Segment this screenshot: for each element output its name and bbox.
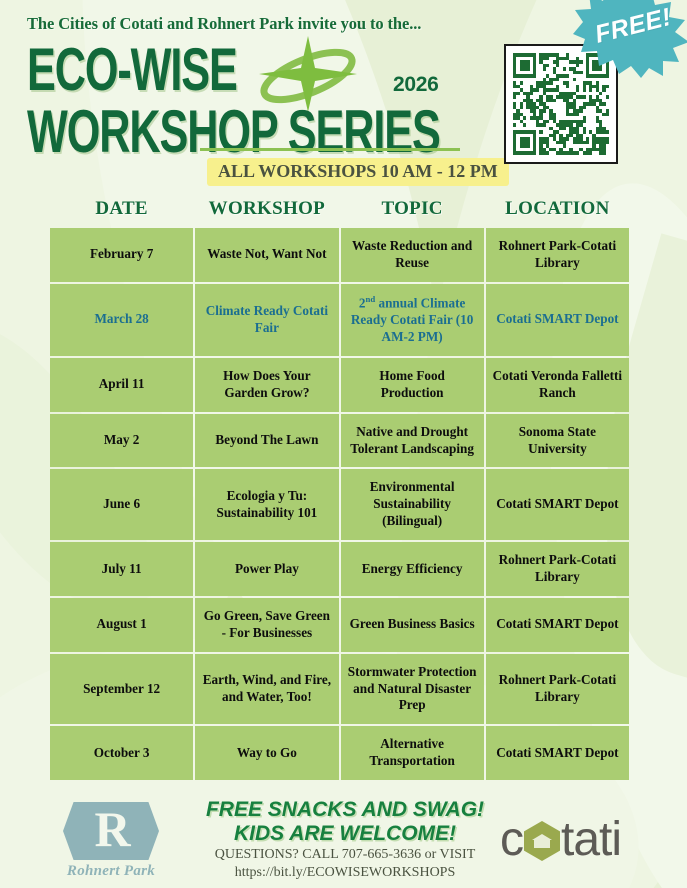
cell-location: Sonoma State University — [486, 414, 629, 468]
cell-topic: 2nd annual Climate Ready Cotati Fair (10… — [341, 284, 484, 356]
contact-phone-line: QUESTIONS? CALL 707-665-3636 or VISIT — [180, 846, 510, 864]
qr-module — [606, 151, 609, 155]
cell-location: Rohnert Park-Cotati Library — [486, 228, 629, 282]
schedule-table-wrap: DATE WORKSHOP TOPIC LOCATION February 7W… — [48, 196, 631, 782]
cell-location: Cotati SMART Depot — [486, 284, 629, 356]
cell-topic: Waste Reduction and Reuse — [341, 228, 484, 282]
title-line-1: ECO-WISE — [27, 40, 440, 98]
rohnert-park-wordmark: Rohnert Park — [58, 863, 164, 880]
cell-workshop: Beyond The Lawn — [195, 414, 338, 468]
footer: R Rohnert Park FREE SNACKS AND SWAG! KID… — [0, 796, 687, 888]
table-row: February 7Waste Not, Want NotWaste Reduc… — [50, 228, 629, 282]
year-label: 2026 — [393, 73, 439, 97]
table-row: March 28Climate Ready Cotati Fair2nd ann… — [50, 284, 629, 356]
table-row: July 11Power PlayEnergy EfficiencyRohner… — [50, 542, 629, 596]
cell-location: Rohnert Park-Cotati Library — [486, 542, 629, 596]
schedule-table: DATE WORKSHOP TOPIC LOCATION February 7W… — [48, 196, 631, 782]
column-header-date: DATE — [50, 198, 193, 226]
cell-workshop: Go Green, Save Green - For Businesses — [195, 598, 338, 652]
cell-date: September 12 — [50, 654, 193, 725]
cell-topic: Stormwater Protection and Natural Disast… — [341, 654, 484, 725]
promo-text: FREE SNACKS AND SWAG! KIDS ARE WELCOME! — [180, 798, 510, 845]
column-header-location: LOCATION — [486, 198, 629, 226]
poster-canvas: FREE! The Cities of Cotati and Rohnert P… — [0, 0, 687, 888]
cell-workshop: Way to Go — [195, 726, 338, 780]
cell-date: March 28 — [50, 284, 193, 356]
column-header-workshop: WORKSHOP — [195, 198, 338, 226]
contact-url-line[interactable]: https://bit.ly/ECOWISEWORKSHOPS — [180, 864, 510, 882]
table-row: May 2Beyond The LawnNative and Drought T… — [50, 414, 629, 468]
cotati-logo: c tati — [500, 814, 621, 866]
cell-location: Cotati SMART Depot — [486, 598, 629, 652]
cell-location: Cotati SMART Depot — [486, 726, 629, 780]
cell-location: Cotati Veronda Falletti Ranch — [486, 358, 629, 412]
cell-workshop: Waste Not, Want Not — [195, 228, 338, 282]
contact-info: QUESTIONS? CALL 707-665-3636 or VISIT ht… — [180, 846, 510, 882]
rohnert-park-monogram: R — [94, 804, 127, 854]
cell-date: May 2 — [50, 414, 193, 468]
cell-workshop: Climate Ready Cotati Fair — [195, 284, 338, 356]
table-row: April 11How Does Your Garden Grow?Home F… — [50, 358, 629, 412]
cell-date: October 3 — [50, 726, 193, 780]
cell-workshop: How Does Your Garden Grow? — [195, 358, 338, 412]
title-line-2: WORKSHOP SERIES — [27, 102, 440, 160]
time-banner: ALL WORKSHOPS 10 AM - 12 PM — [207, 158, 509, 186]
table-row: September 12Earth, Wind, and Fire, and W… — [50, 654, 629, 725]
cotati-wordmark-prefix: c — [500, 816, 523, 864]
cell-workshop: Earth, Wind, and Fire, and Water, Too! — [195, 654, 338, 725]
cell-workshop: Power Play — [195, 542, 338, 596]
cell-topic: Energy Efficiency — [341, 542, 484, 596]
cell-topic: Native and Drought Tolerant Landscaping — [341, 414, 484, 468]
cotati-wordmark-suffix: tati — [561, 816, 621, 864]
cell-topic: Environmental Sustainability (Bilingual) — [341, 469, 484, 540]
cell-topic: Home Food Production — [341, 358, 484, 412]
cell-date: June 6 — [50, 469, 193, 540]
promo-line-1: FREE SNACKS AND SWAG! — [180, 798, 510, 822]
cell-location: Rohnert Park-Cotati Library — [486, 654, 629, 725]
hexagon-icon — [524, 821, 560, 861]
cell-location: Cotati SMART Depot — [486, 469, 629, 540]
rohnert-park-logo: R Rohnert Park — [58, 802, 164, 884]
promo-line-2: KIDS ARE WELCOME! — [180, 822, 510, 846]
title-underline — [200, 148, 460, 151]
cell-topic: Green Business Basics — [341, 598, 484, 652]
table-header-row: DATE WORKSHOP TOPIC LOCATION — [50, 198, 629, 226]
table-row: October 3Way to GoAlternative Transporta… — [50, 726, 629, 780]
pavilion-body — [534, 840, 550, 848]
free-badge-text-wrap: FREE! — [555, 0, 687, 92]
cell-date: August 1 — [50, 598, 193, 652]
pavilion-icon — [532, 834, 552, 848]
hexagon-icon: R — [63, 802, 159, 860]
cell-date: July 11 — [50, 542, 193, 596]
cell-date: April 11 — [50, 358, 193, 412]
column-header-topic: TOPIC — [341, 198, 484, 226]
table-row: June 6Ecologia y Tu: Sustainability 101E… — [50, 469, 629, 540]
cell-topic: Alternative Transportation — [341, 726, 484, 780]
cell-workshop: Ecologia y Tu: Sustainability 101 — [195, 469, 338, 540]
schedule-table-body: February 7Waste Not, Want NotWaste Reduc… — [50, 228, 629, 780]
cell-date: February 7 — [50, 228, 193, 282]
invite-line: The Cities of Cotati and Rohnert Park in… — [27, 14, 421, 34]
table-row: August 1Go Green, Save Green - For Busin… — [50, 598, 629, 652]
free-badge-label: FREE! — [582, 2, 675, 57]
free-badge: FREE! — [565, 0, 687, 78]
